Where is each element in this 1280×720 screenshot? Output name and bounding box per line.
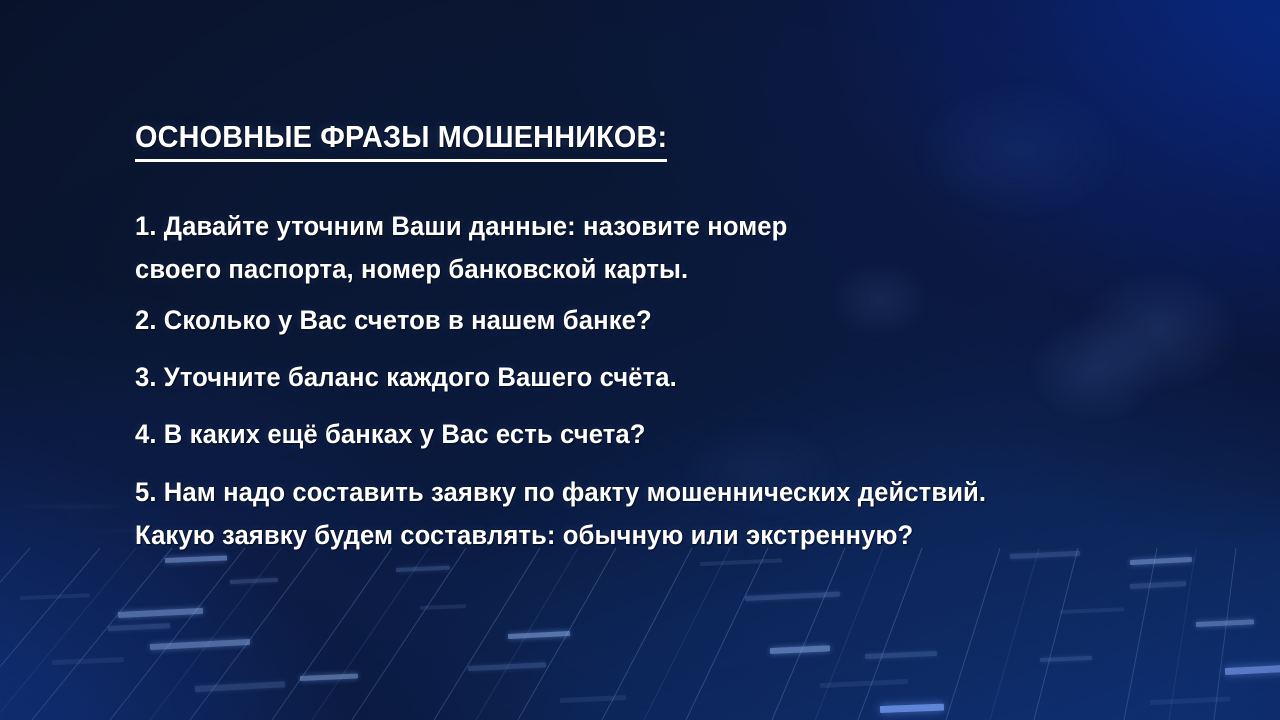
phrase-item-1-line-2: своего паспорта, номер банковской карты. [135,254,688,285]
phrase-item-3-line-1: 3. Уточните баланс каждого Вашего счёта. [135,362,677,393]
phrase-item-1-line-1: 1. Давайте уточним Ваши данные: назовите… [135,211,787,242]
phrase-item-2-line-1: 2. Сколько у Вас счетов в нашем банке? [135,305,652,336]
phrase-item-5-line-2: Какую заявку будем составлять: обычную и… [135,520,913,551]
phrase-item-4-line-1: 4. В каких ещё банках у Вас есть счета? [135,419,646,450]
phrase-item-5-line-1: 5. Нам надо составить заявку по факту мо… [135,477,986,508]
slide-title: ОСНОВНЫЕ ФРАЗЫ МОШЕННИКОВ: [135,119,667,162]
text-content: ОСНОВНЫЕ ФРАЗЫ МОШЕННИКОВ: 1. Давайте ут… [135,0,1235,720]
slide-canvas: ОСНОВНЫЕ ФРАЗЫ МОШЕННИКОВ: 1. Давайте ут… [0,0,1280,720]
